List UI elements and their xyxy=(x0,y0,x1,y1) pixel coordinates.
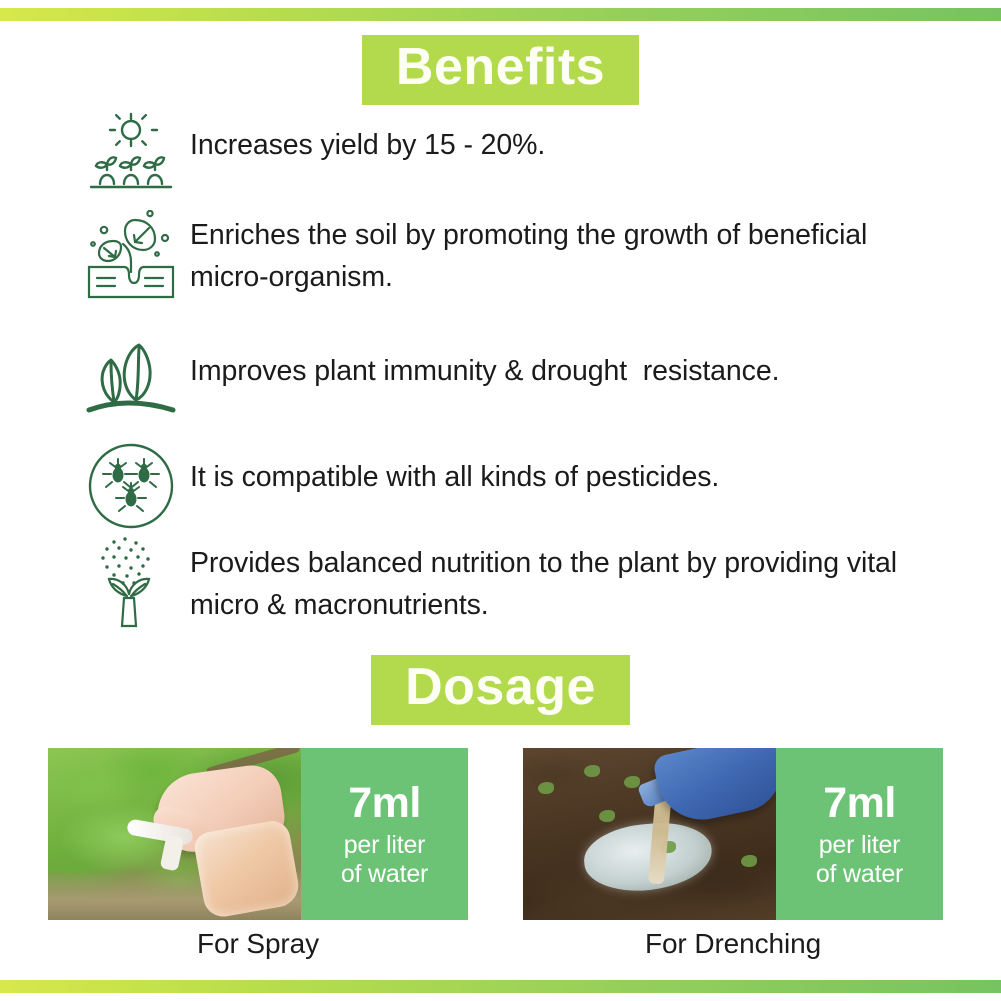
pests-in-circle-icon xyxy=(72,440,190,532)
benefit-text: Increases yield by 15 - 20%. xyxy=(190,108,952,166)
benefit-text: Improves plant immunity & drought resist… xyxy=(190,334,952,392)
benefit-text: Enriches the soil by promoting the growt… xyxy=(190,210,952,298)
dosage-per-line1: per liter xyxy=(819,831,901,860)
dosage-heading-wrap: Dosage xyxy=(0,655,1001,725)
dosage-per-line1: per liter xyxy=(344,831,426,860)
sprout-with-nutrients-icon xyxy=(72,538,190,630)
benefit-item: It is compatible with all kinds of pesti… xyxy=(72,440,952,532)
benefit-item: Provides balanced nutrition to the plant… xyxy=(72,538,952,642)
plant-in-soil-microorganism-icon xyxy=(72,210,190,302)
dosage-cards: 7ml per liter of water xyxy=(0,748,1001,928)
caption-for-spray: For Spray xyxy=(48,928,468,960)
benefit-item: Improves plant immunity & drought resist… xyxy=(72,334,952,430)
dosage-amount: 7ml xyxy=(823,782,896,825)
dosage-heading: Dosage xyxy=(371,655,630,725)
benefit-item: Increases yield by 15 - 20%. xyxy=(72,108,952,204)
benefit-text: It is compatible with all kinds of pesti… xyxy=(190,440,952,498)
benefit-item: Enriches the soil by promoting the growt… xyxy=(72,210,952,322)
product-info-page: Benefits xyxy=(0,0,1001,1001)
caption-for-drenching: For Drenching xyxy=(523,928,943,960)
two-leaves-on-ground-icon xyxy=(72,334,190,426)
dosage-amount: 7ml xyxy=(348,782,421,825)
top-divider-rule xyxy=(0,8,1001,21)
dosage-card-spray: 7ml per liter of water xyxy=(48,748,468,920)
sun-over-seedlings-icon xyxy=(72,108,190,200)
benefit-text: Provides balanced nutrition to the plant… xyxy=(190,538,952,626)
benefits-heading: Benefits xyxy=(362,35,639,105)
dosage-amount-panel-drenching: 7ml per liter of water xyxy=(776,748,943,920)
dosage-captions: For Spray For Drenching xyxy=(0,928,1001,972)
benefits-list: Increases yield by 15 - 20%. xyxy=(72,108,952,648)
dosage-amount-panel-spray: 7ml per liter of water xyxy=(301,748,468,920)
dosage-card-drenching: 7ml per liter of water xyxy=(523,748,943,920)
watering-can-drenching-soil-photo xyxy=(523,748,776,920)
hand-spraying-plants-photo xyxy=(48,748,301,920)
dosage-per-line2: of water xyxy=(341,860,428,889)
dosage-per-line2: of water xyxy=(816,860,903,889)
bottom-divider-rule xyxy=(0,980,1001,993)
benefits-heading-wrap: Benefits xyxy=(0,35,1001,105)
